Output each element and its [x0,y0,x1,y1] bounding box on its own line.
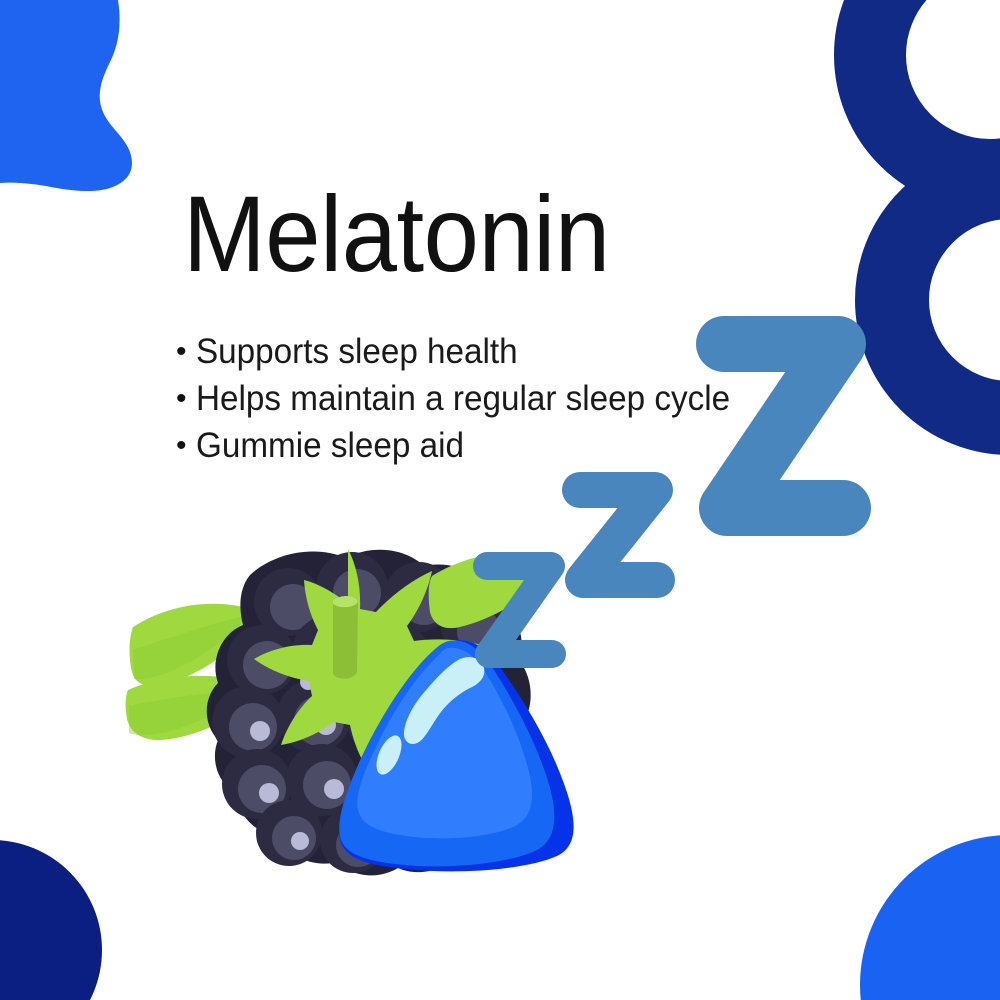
bullet-dot-icon: • [176,375,196,422]
benefit-label-3: Gummie sleep aid [196,422,464,469]
list-item: • Supports sleep health [176,328,796,375]
list-item: • Helps maintain a regular sleep cycle [176,375,796,422]
bullet-dot-icon: • [176,422,196,469]
benefits-list: • Supports sleep health • Helps maintain… [176,328,796,469]
benefit-label-2: Helps maintain a regular sleep cycle [196,375,730,422]
text-layer: Melatonin • Supports sleep health • Help… [0,0,1000,1000]
benefit-label-1: Supports sleep health [196,328,518,375]
list-item: • Gummie sleep aid [176,422,796,469]
page-title: Melatonin [183,180,610,288]
poster-canvas: Melatonin • Supports sleep health • Help… [0,0,1000,1000]
bullet-dot-icon: • [176,328,196,375]
